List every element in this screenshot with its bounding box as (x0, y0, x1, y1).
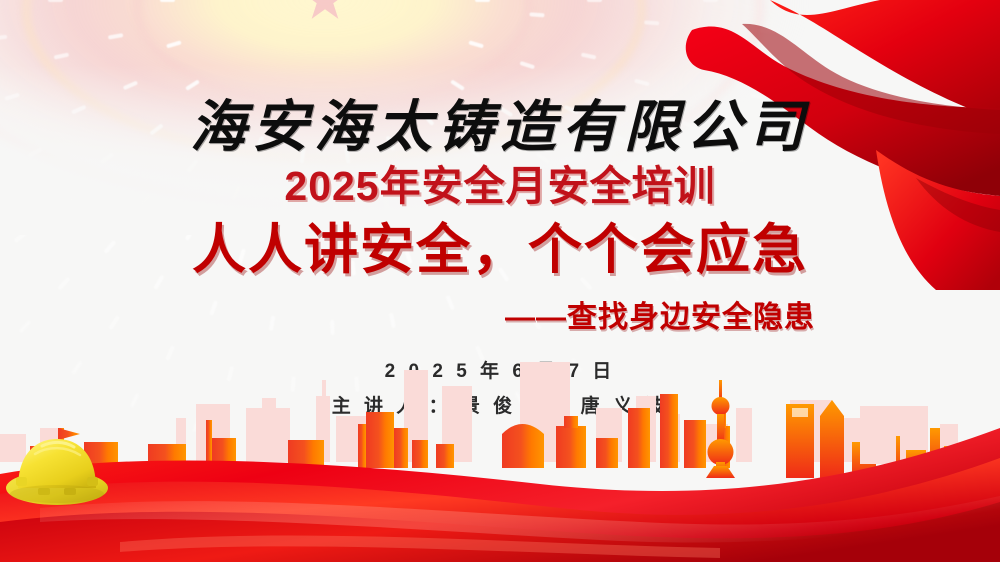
presentation-date: 2 0 2 5 年 6 月 7 日 (0, 356, 1000, 383)
starburst-dash (644, 20, 659, 25)
starburst-dash (0, 35, 7, 41)
starburst-dash (390, 430, 396, 445)
starburst-dash (587, 0, 602, 2)
tagline: ——查找身边安全隐患 (0, 292, 1000, 336)
starburst-dash (258, 431, 264, 446)
starburst-dash (703, 0, 718, 2)
starburst-dash (520, 61, 536, 69)
starburst-dash (48, 0, 63, 2)
starburst-dash (529, 12, 544, 17)
starburst-dash (760, 28, 775, 33)
five-point-star-icon (302, 0, 348, 23)
page-title: 海安海太铸造有限公司 (0, 82, 1000, 163)
starburst-dash (698, 60, 713, 66)
starburst-dash (166, 40, 182, 48)
training-subtitle: 2025年安全月安全培训 (0, 152, 1000, 212)
starburst-dash (108, 33, 123, 40)
meta-block: 2 0 2 5 年 6 月 7 日 主 讲 人 ： 景 俊 康 唐 义 波 (0, 356, 1000, 418)
speaker-line: 主 讲 人 ： 景 俊 康 唐 义 波 (0, 391, 1000, 418)
safety-helmet-icon (2, 430, 112, 510)
starburst-dash (54, 53, 70, 60)
presentation-title-slide: 海安海太铸造有限公司 2025年安全月安全培训 人人讲安全，个个会应急 ——查找… (0, 0, 1000, 562)
starburst-dash (160, 0, 175, 2)
starburst-dash (192, 417, 200, 433)
main-slogan: 人人讲安全，个个会应急 (0, 205, 1000, 284)
starburst-dash (325, 436, 329, 451)
starburst-dash (581, 53, 597, 60)
starburst-dash (468, 40, 484, 48)
starburst-dash (475, 0, 490, 2)
